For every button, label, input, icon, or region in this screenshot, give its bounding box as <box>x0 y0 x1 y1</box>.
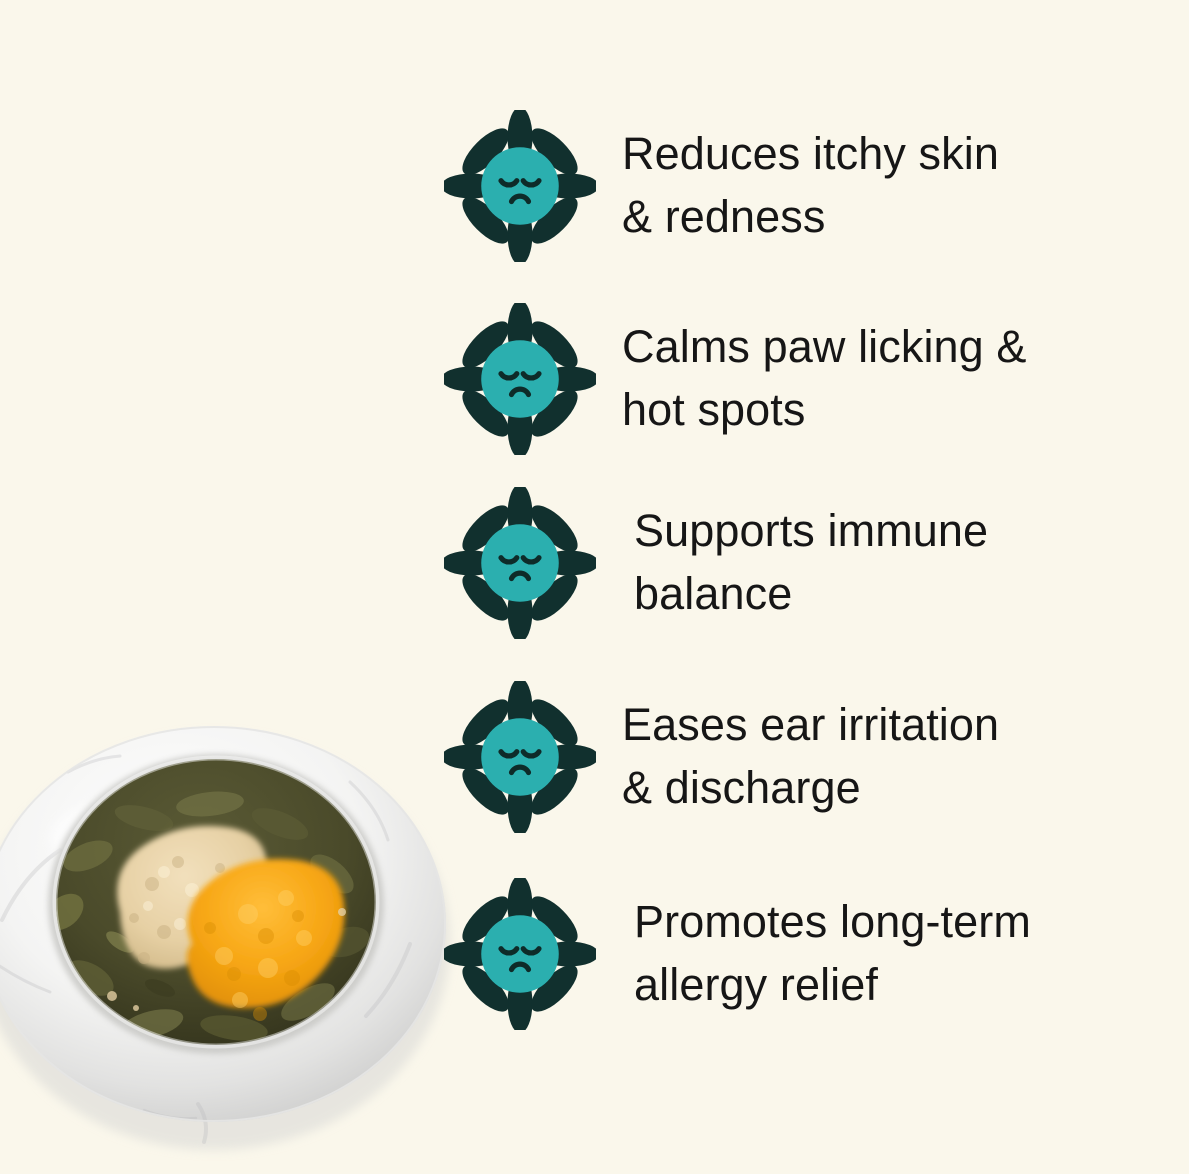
smiling-flower-icon <box>440 667 600 847</box>
benefit-label: Reduces itchy skin & redness <box>600 123 1140 248</box>
benefit-item-paw-licking: Calms paw licking & hot spots <box>440 289 1140 469</box>
benefit-label: Promotes long-term allergy relief <box>600 891 1140 1016</box>
smiling-flower-icon <box>440 864 600 1044</box>
smiling-flower-icon <box>440 289 600 469</box>
benefit-label: Eases ear irritation & discharge <box>600 694 1140 819</box>
benefit-item-allergy-relief: Promotes long-term allergy relief <box>440 864 1140 1044</box>
benefit-item-itchy-skin: Reduces itchy skin & redness <box>440 96 1140 276</box>
smiling-flower-icon <box>440 96 600 276</box>
benefit-item-immune-balance: Supports immune balance <box>440 473 1140 653</box>
benefit-item-ear-irritation: Eases ear irritation & discharge <box>440 667 1140 847</box>
benefit-label: Supports immune balance <box>600 500 1140 625</box>
benefit-label: Calms paw licking & hot spots <box>600 316 1140 441</box>
smiling-flower-icon <box>440 473 600 653</box>
promo-graphic: Reduces itchy skin & redness <box>0 0 1189 1174</box>
herb-bowl-photo <box>0 706 480 1174</box>
